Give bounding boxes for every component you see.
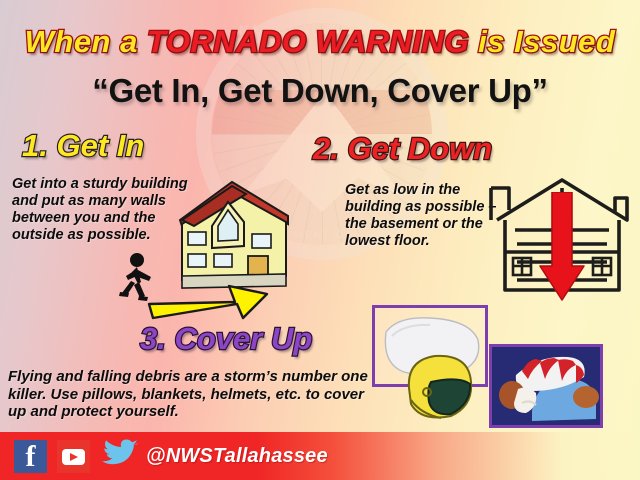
section-2-body: Get as low in the building as possible –… xyxy=(345,182,505,250)
youtube-play-triangle xyxy=(70,453,78,461)
red-down-arrow-icon xyxy=(538,192,586,302)
section-1-heading: 1. Get In xyxy=(22,130,144,161)
section-3-body: Flying and falling debris are a storm’s … xyxy=(8,368,378,421)
youtube-icon[interactable] xyxy=(57,440,90,473)
tornado-warning-infographic: NATIONAL WEATHER U.S. DEPARTMENT OF COMM… xyxy=(0,0,640,480)
facebook-icon[interactable]: f xyxy=(14,440,47,473)
page-title: When a TORNADO WARNING is Issued xyxy=(0,26,640,57)
title-part-3: is Issued xyxy=(469,24,615,59)
section-1-body: Get into a sturdy building and put as ma… xyxy=(12,176,190,244)
yellow-arrow-icon xyxy=(147,272,271,322)
title-part-1: When a xyxy=(25,24,147,59)
section-3-heading: 3. Cover Up xyxy=(140,323,312,354)
page-subtitle: “Get In, Get Down, Cover Up” xyxy=(0,72,640,110)
section-2-heading: 2. Get Down xyxy=(313,133,492,164)
twitter-icon[interactable] xyxy=(99,439,139,473)
title-part-2: TORNADO WARNING xyxy=(147,24,469,59)
facebook-glyph: f xyxy=(14,440,47,473)
helmet-illustration xyxy=(401,348,477,424)
social-handle: @NWSTallahassee xyxy=(146,445,328,468)
person-covering-photo xyxy=(489,344,603,428)
